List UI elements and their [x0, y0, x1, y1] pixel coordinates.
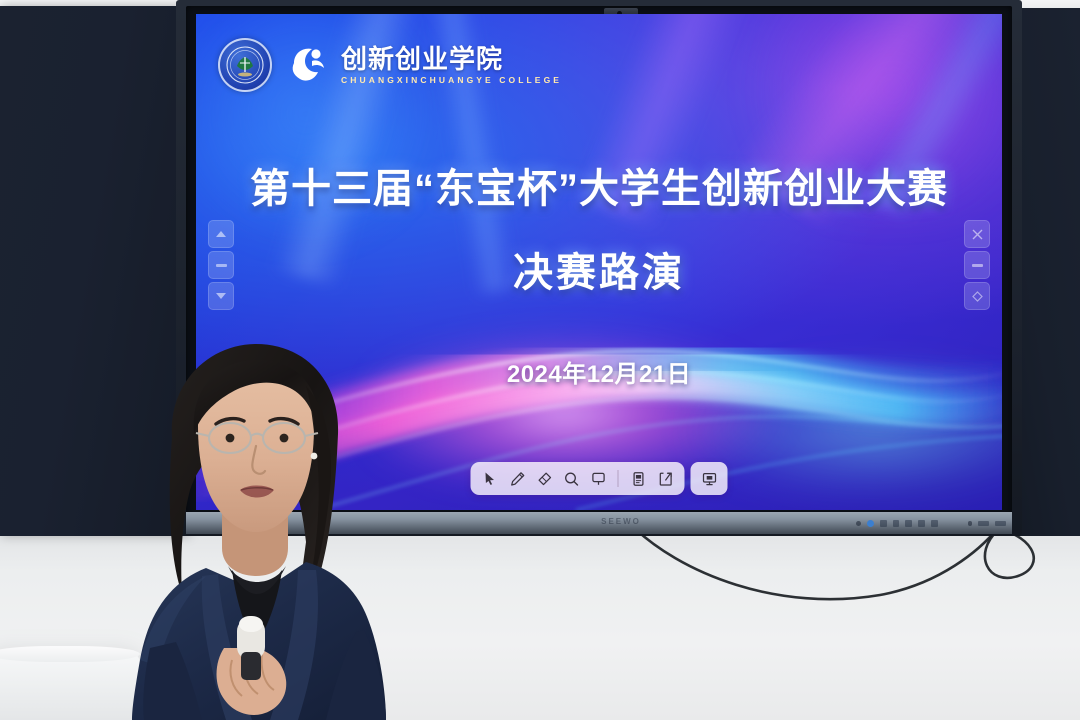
- export-icon: [657, 471, 673, 487]
- chevron-up-icon: [216, 231, 226, 237]
- magnifier-icon: [563, 471, 579, 487]
- page-indicator[interactable]: [964, 251, 990, 279]
- annotation-toolbar[interactable]: [471, 462, 728, 495]
- status-bar-icon: [995, 521, 1006, 526]
- home-icon[interactable]: [931, 520, 938, 527]
- toolbar-separator: [618, 470, 619, 487]
- close-icon: [972, 229, 983, 240]
- diamond-icon: [972, 291, 983, 302]
- display-bezel-controls[interactable]: [856, 516, 1006, 530]
- input-icon[interactable]: [905, 520, 912, 527]
- slide-logo-row: 创新创业学院 CHUANGXINCHUANGYE COLLEGE: [218, 38, 562, 92]
- notes-tool[interactable]: [626, 467, 651, 490]
- university-crest-icon: [218, 38, 272, 92]
- menu-icon[interactable]: [880, 520, 887, 527]
- hanging-cable: [580, 520, 1080, 720]
- settings-icon[interactable]: [918, 520, 925, 527]
- college-name-cn: 创新创业学院: [341, 46, 562, 72]
- chevron-down-icon: [216, 293, 226, 299]
- pen-icon: [509, 471, 525, 487]
- scroll-down-button[interactable]: [208, 282, 234, 310]
- wall-panel-right: [1012, 8, 1080, 536]
- side-panel-right[interactable]: [964, 220, 990, 310]
- page-indicator[interactable]: [208, 251, 234, 279]
- volume-icon[interactable]: [893, 520, 900, 527]
- eraser-tool[interactable]: [532, 467, 557, 490]
- close-button[interactable]: [964, 220, 990, 248]
- pointer-tool[interactable]: [478, 467, 503, 490]
- export-tool[interactable]: [653, 467, 678, 490]
- presenter-speaker: [110, 330, 440, 720]
- ir-sensor-icon: [978, 521, 989, 526]
- spotlight-tool[interactable]: [586, 467, 611, 490]
- toolbar-group-present[interactable]: [691, 462, 728, 495]
- spotlight-icon: [590, 471, 606, 487]
- display-brand-label: SEEWO: [576, 515, 666, 529]
- book-icon: [630, 471, 646, 487]
- indicator-led-icon: [867, 520, 874, 527]
- swoosh-icon: [288, 43, 332, 87]
- college-name-en: CHUANGXINCHUANGYE COLLEGE: [341, 76, 562, 85]
- zoom-tool[interactable]: [559, 467, 584, 490]
- side-panel-left[interactable]: [208, 220, 234, 310]
- presentation-scene: 创新创业学院 CHUANGXINCHUANGYE COLLEGE 第十三届“东宝…: [0, 0, 1080, 720]
- present-tool[interactable]: [697, 467, 722, 490]
- slide-title-main: 第十三届“东宝杯”大学生创新创业大赛: [196, 156, 1002, 214]
- toolbar-group-tools[interactable]: [471, 462, 685, 495]
- bar-icon: [972, 264, 983, 267]
- slide-title-sub: 决赛路演: [196, 240, 1002, 298]
- college-logo: 创新创业学院 CHUANGXINCHUANGYE COLLEGE: [288, 43, 562, 87]
- presentation-icon: [701, 471, 717, 487]
- bar-icon: [216, 264, 227, 267]
- pen-tool[interactable]: [505, 467, 530, 490]
- power-dot-icon[interactable]: [856, 521, 861, 526]
- scroll-up-button[interactable]: [208, 220, 234, 248]
- eraser-icon: [536, 471, 552, 487]
- cursor-icon: [483, 471, 498, 486]
- sensor-dot-icon: [968, 521, 973, 526]
- more-button[interactable]: [964, 282, 990, 310]
